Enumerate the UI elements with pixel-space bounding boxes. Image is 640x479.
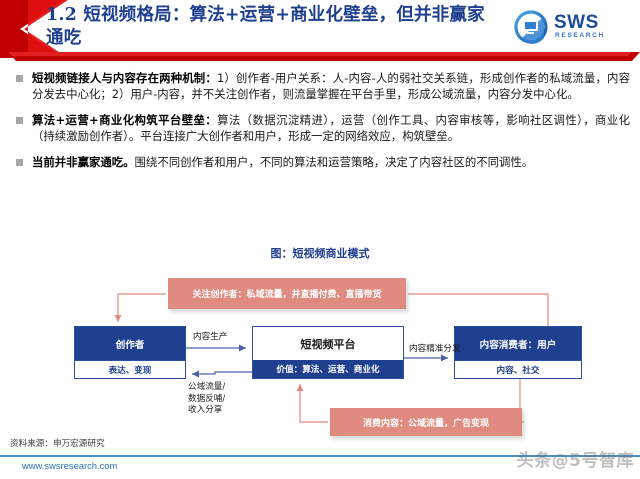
header-red-band-highlight (8, 52, 632, 56)
arrow-label-precise-distribution: 内容精准分发 (409, 344, 461, 356)
list-item: 短视频链接人与内容存在两种机制：1）创作者-用户关系：人-内容-人的弱社交关系链… (12, 70, 630, 103)
watermark-text: 头条@5号智库 (517, 446, 634, 471)
creator-subtitle: 表达、变现 (75, 360, 185, 378)
annotation-follow-creator: 关注创作者：私域流量，并直播付费、直播带货 (168, 278, 406, 309)
list-item: 当前并非赢家通吃。围绕不同创作者和用户，不同的算法和运营策略，决定了内容社区的不… (12, 154, 630, 170)
platform-title: 短视频平台 (253, 327, 403, 360)
square-bullet-icon (16, 159, 23, 166)
page-title: 1.2 短视频格局：算法+运营+商业化壁垒，但并非赢家 通吃 (46, 4, 556, 50)
bullet-list: 短视频链接人与内容存在两种机制：1）创作者-用户关系：人-内容-人的弱社交关系链… (12, 70, 630, 179)
arrow-label-feedback: 公域流量/ 数据反哺/ 收入分享 (188, 382, 225, 417)
diagram-box-consumer: 内容消费者：用户 内容、社交 (454, 326, 582, 379)
creator-title: 创作者 (75, 327, 185, 360)
bullet-paragraph: 当前并非赢家通吃。围绕不同创作者和用户，不同的算法和运营策略，决定了内容社区的不… (32, 154, 630, 170)
sws-monitor-icon (514, 10, 548, 44)
consumer-subtitle: 内容、社交 (455, 360, 581, 378)
page-title-line1: 1.2 短视频格局：算法+运营+商业化壁垒，但并非赢家 (46, 4, 556, 27)
footer-url[interactable]: www.swsresearch.com (22, 460, 117, 471)
diagram-box-platform: 短视频平台 价值：算法、运营、商业化 (252, 326, 404, 379)
diagram-box-creator: 创作者 表达、变现 (74, 326, 186, 379)
sws-logo: SWS RESEARCH (514, 8, 634, 48)
bullet-lead-in: 算法+运营+商业化构筑平台壁垒： (32, 113, 217, 127)
bullet-paragraph: 短视频链接人与内容存在两种机制：1）创作者-用户关系：人-内容-人的弱社交关系链… (32, 70, 630, 103)
square-bullet-icon (16, 75, 23, 82)
list-item: 算法+运营+商业化构筑平台壁垒：算法（数据沉淀精进），运营（创作工具、内容审核等… (12, 112, 630, 145)
sws-logo-subtext: RESEARCH (555, 32, 605, 39)
bullet-paragraph: 算法+运营+商业化构筑平台壁垒：算法（数据沉淀精进），运营（创作工具、内容审核等… (32, 112, 630, 145)
slide-header: 1.2 短视频格局：算法+运营+商业化壁垒，但并非赢家 通吃 SWS RESEA… (0, 0, 640, 64)
bullet-lead-in: 当前并非赢家通吃。 (32, 155, 135, 169)
platform-subtitle: 价值：算法、运营、商业化 (253, 360, 403, 378)
source-note: 资料来源：申万宏源研究 (10, 437, 105, 449)
page-title-line2: 通吃 (46, 27, 556, 50)
business-model-diagram: 创作者 表达、变现 短视频平台 价值：算法、运营、商业化 内容消费者：用户 内容… (0, 262, 640, 434)
sws-logo-text: SWS (554, 12, 599, 34)
annotation-consume-content: 消费内容：公域流量，广告变现 (330, 408, 522, 436)
slide-canvas: 1.2 短视频格局：算法+运营+商业化壁垒，但并非赢家 通吃 SWS RESEA… (0, 0, 640, 479)
arrow-label-content-production: 内容生产 (193, 332, 227, 344)
bullet-lead-in: 短视频链接人与内容存在两种机制： (32, 71, 217, 85)
figure-caption: 图：短视频商业模式 (0, 245, 640, 261)
consumer-title: 内容消费者：用户 (455, 327, 581, 360)
bullet-body: 围绕不同创作者和用户，不同的算法和运营策略，决定了内容社区的不同调性。 (135, 155, 534, 169)
square-bullet-icon (16, 117, 23, 124)
